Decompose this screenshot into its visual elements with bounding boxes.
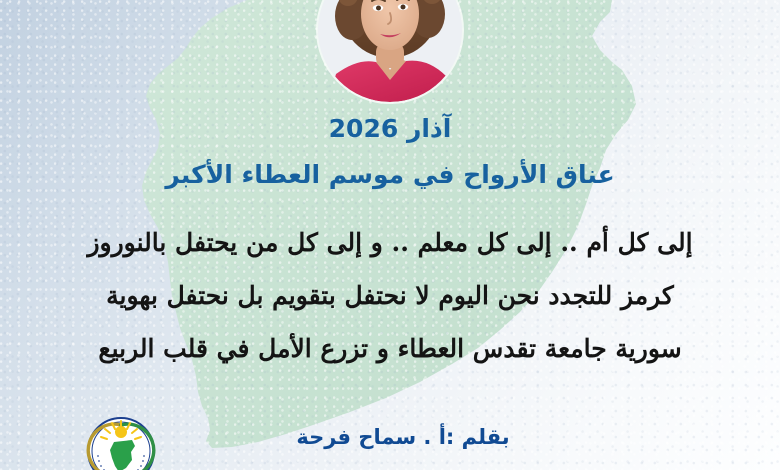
poster-headline: عناق الأرواح في موسم العطاء الأكبر: [0, 160, 780, 189]
poster-canvas: آذار 2026 عناق الأرواح في موسم العطاء ال…: [0, 0, 780, 470]
body-line-1: إلى كل أم .. إلى كل معلم .. و إلى كل من …: [0, 228, 780, 257]
organization-emblem: [86, 416, 156, 470]
poster-date: آذار 2026: [0, 114, 780, 143]
body-line-3: سورية جامعة تقدس العطاء و تزرع الأمل في …: [0, 334, 780, 363]
body-line-2: كرمز للتجدد نحن اليوم لا نحتفل بتقويم بل…: [0, 281, 780, 310]
